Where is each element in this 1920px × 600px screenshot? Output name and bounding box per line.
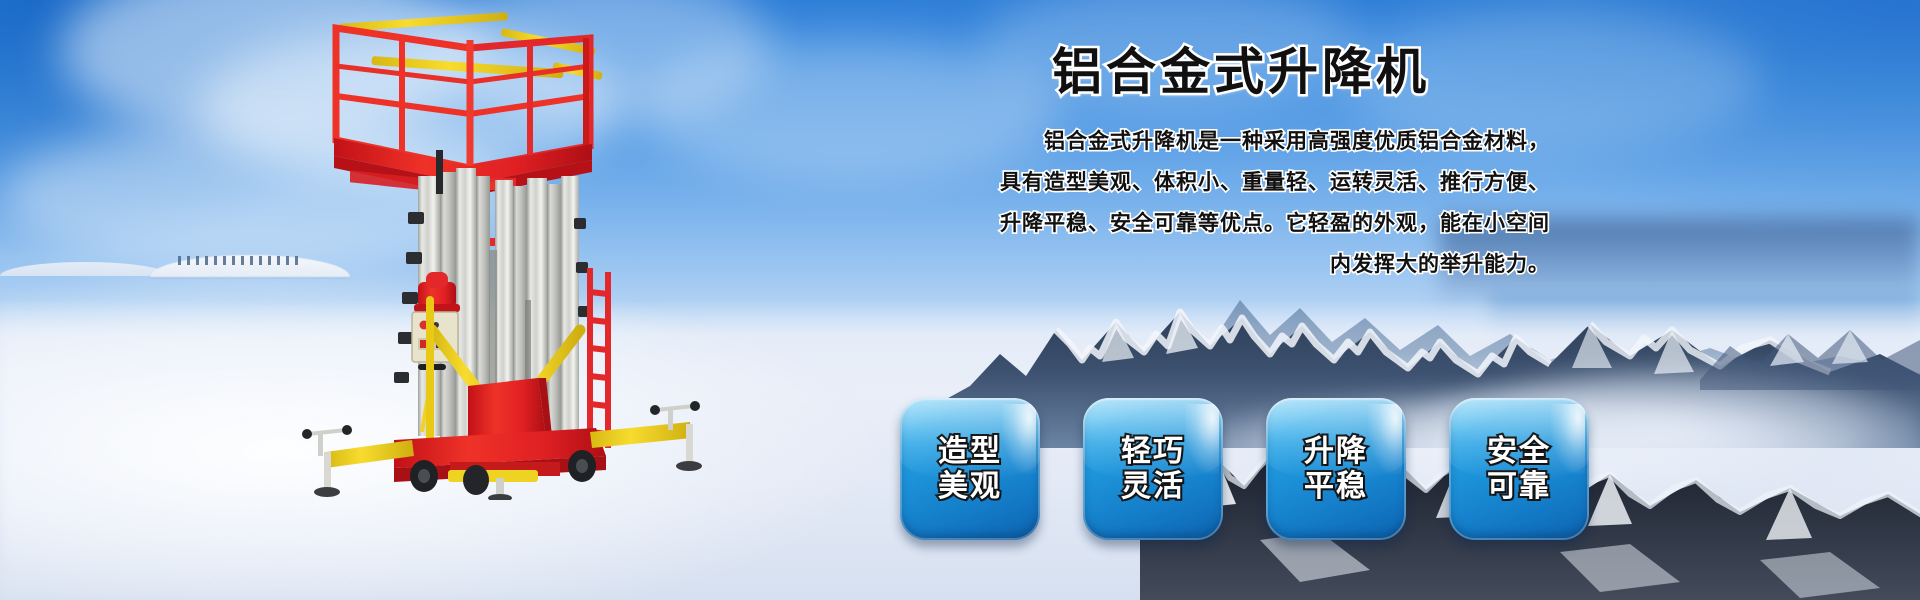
description-line-4: 内发挥大的举升能力。 — [760, 245, 1550, 286]
badge-label: 轻巧 灵活 — [1121, 434, 1185, 505]
product-image-aluminum-lift — [290, 0, 710, 500]
copy-block: 铝合金式升降机 铝合金式升降机是一种采用高强度优质铝合金材料， 具有造型美观、体… — [760, 44, 1580, 286]
badge-label-line1: 轻巧 — [1121, 434, 1185, 469]
description-line-2: 具有造型美观、体积小、重量轻、运转灵活、推行方便、 — [760, 163, 1550, 204]
feature-badge-lightweight[interactable]: 轻巧 灵活 — [1083, 398, 1223, 540]
feature-badge-appearance[interactable]: 造型 美观 — [900, 398, 1040, 540]
product-banner: 铝合金式升降机 铝合金式升降机是一种采用高强度优质铝合金材料， 具有造型美观、体… — [0, 0, 1920, 600]
side-ladder — [590, 268, 608, 448]
badge-highlight-icon — [1551, 404, 1585, 474]
distant-peak-rocks — [178, 256, 298, 265]
badge-label-line1: 造型 — [938, 434, 1002, 469]
badge-label: 安全 可靠 — [1487, 434, 1551, 505]
badge-highlight-icon — [1185, 404, 1219, 474]
badge-label-line2: 灵活 — [1121, 469, 1185, 504]
feature-badge-list: 造型 美观 轻巧 灵活 升降 平稳 — [900, 398, 1589, 540]
description-line-1: 铝合金式升降机是一种采用高强度优质铝合金材料， — [760, 122, 1550, 163]
badge-highlight-icon — [1368, 404, 1402, 474]
mountain-ridge-far-right — [1700, 300, 1920, 390]
badge-label-line2: 可靠 — [1487, 469, 1551, 504]
feature-badge-safety[interactable]: 安全 可靠 — [1449, 398, 1589, 540]
badge-label-line2: 平稳 — [1304, 469, 1368, 504]
description-line-3: 升降平稳、安全可靠等优点。它轻盈的外观，能在小空间 — [760, 204, 1550, 245]
badge-label-line1: 安全 — [1487, 434, 1551, 469]
feature-badge-smooth-lift[interactable]: 升降 平稳 — [1266, 398, 1406, 540]
page-title: 铝合金式升降机 — [760, 44, 1580, 100]
product-description: 铝合金式升降机是一种采用高强度优质铝合金材料， 具有造型美观、体积小、重量轻、运… — [760, 122, 1580, 286]
badge-label: 升降 平稳 — [1304, 434, 1368, 505]
badge-highlight-icon — [1002, 404, 1036, 474]
badge-label: 造型 美观 — [938, 434, 1002, 505]
badge-label-line2: 美观 — [938, 469, 1002, 504]
badge-label-line1: 升降 — [1304, 434, 1368, 469]
